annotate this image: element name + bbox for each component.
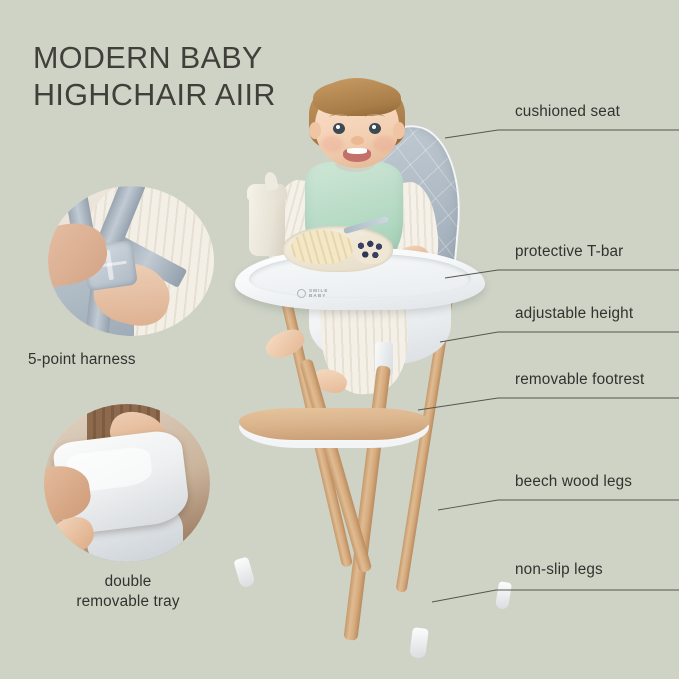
baby-brow-left bbox=[329, 114, 349, 121]
baby-fringe bbox=[313, 80, 401, 116]
blueberries bbox=[353, 236, 389, 264]
callout-non-slip-legs: non-slip legs bbox=[432, 558, 679, 602]
callout-protective-t-bar: protective T-bar bbox=[440, 240, 679, 280]
baby-eye-right bbox=[369, 123, 381, 134]
callout-beech-wood-legs: beech wood legs bbox=[438, 470, 679, 512]
inset-label-five-point-harness: 5-point harness bbox=[28, 350, 238, 370]
tray-brand-logo: SMILE BABY bbox=[297, 288, 329, 299]
leader-line-cushioned-seat bbox=[440, 100, 679, 140]
baby-cheek-right bbox=[373, 136, 395, 152]
brand-mark-icon bbox=[297, 289, 306, 298]
removable-footrest bbox=[239, 408, 429, 440]
inset-label-line-2: removable tray bbox=[30, 592, 226, 612]
inset-five-point-harness bbox=[48, 186, 214, 336]
leader-line-removable-footrest bbox=[418, 368, 679, 410]
non-slip-cap-front-left bbox=[233, 556, 255, 588]
banana-slices bbox=[291, 230, 353, 264]
brand-wordmark: SMILE BABY bbox=[309, 288, 329, 299]
baby-nose bbox=[351, 136, 364, 145]
baby-eye-left bbox=[333, 123, 345, 134]
baby-cheek-left bbox=[321, 136, 343, 152]
callout-adjustable-height: adjustable height bbox=[440, 302, 679, 342]
baby-ear-right bbox=[393, 122, 405, 139]
leader-line-protective-t-bar bbox=[440, 240, 679, 280]
inset-double-removable-tray bbox=[44, 404, 210, 562]
baby-ear-left bbox=[309, 122, 321, 139]
baby-mouth bbox=[343, 148, 371, 162]
leader-line-beech-wood-legs bbox=[438, 470, 679, 512]
infographic-canvas: MODERN BABY HIGHCHAIR AIIR bbox=[0, 0, 679, 679]
callout-cushioned-seat: cushioned seat bbox=[440, 100, 679, 140]
sippy-cup-spout bbox=[263, 171, 278, 191]
inset-label-line-1: double bbox=[30, 572, 226, 592]
leader-line-non-slip-legs bbox=[432, 558, 679, 602]
callout-removable-footrest: removable footrest bbox=[418, 368, 679, 410]
non-slip-cap-front-right bbox=[409, 627, 429, 659]
inset-label-double-removable-tray: double removable tray bbox=[30, 572, 226, 612]
sippy-cup-body bbox=[249, 194, 285, 256]
baby-brow-right bbox=[365, 114, 385, 121]
leader-line-adjustable-height bbox=[440, 302, 679, 342]
